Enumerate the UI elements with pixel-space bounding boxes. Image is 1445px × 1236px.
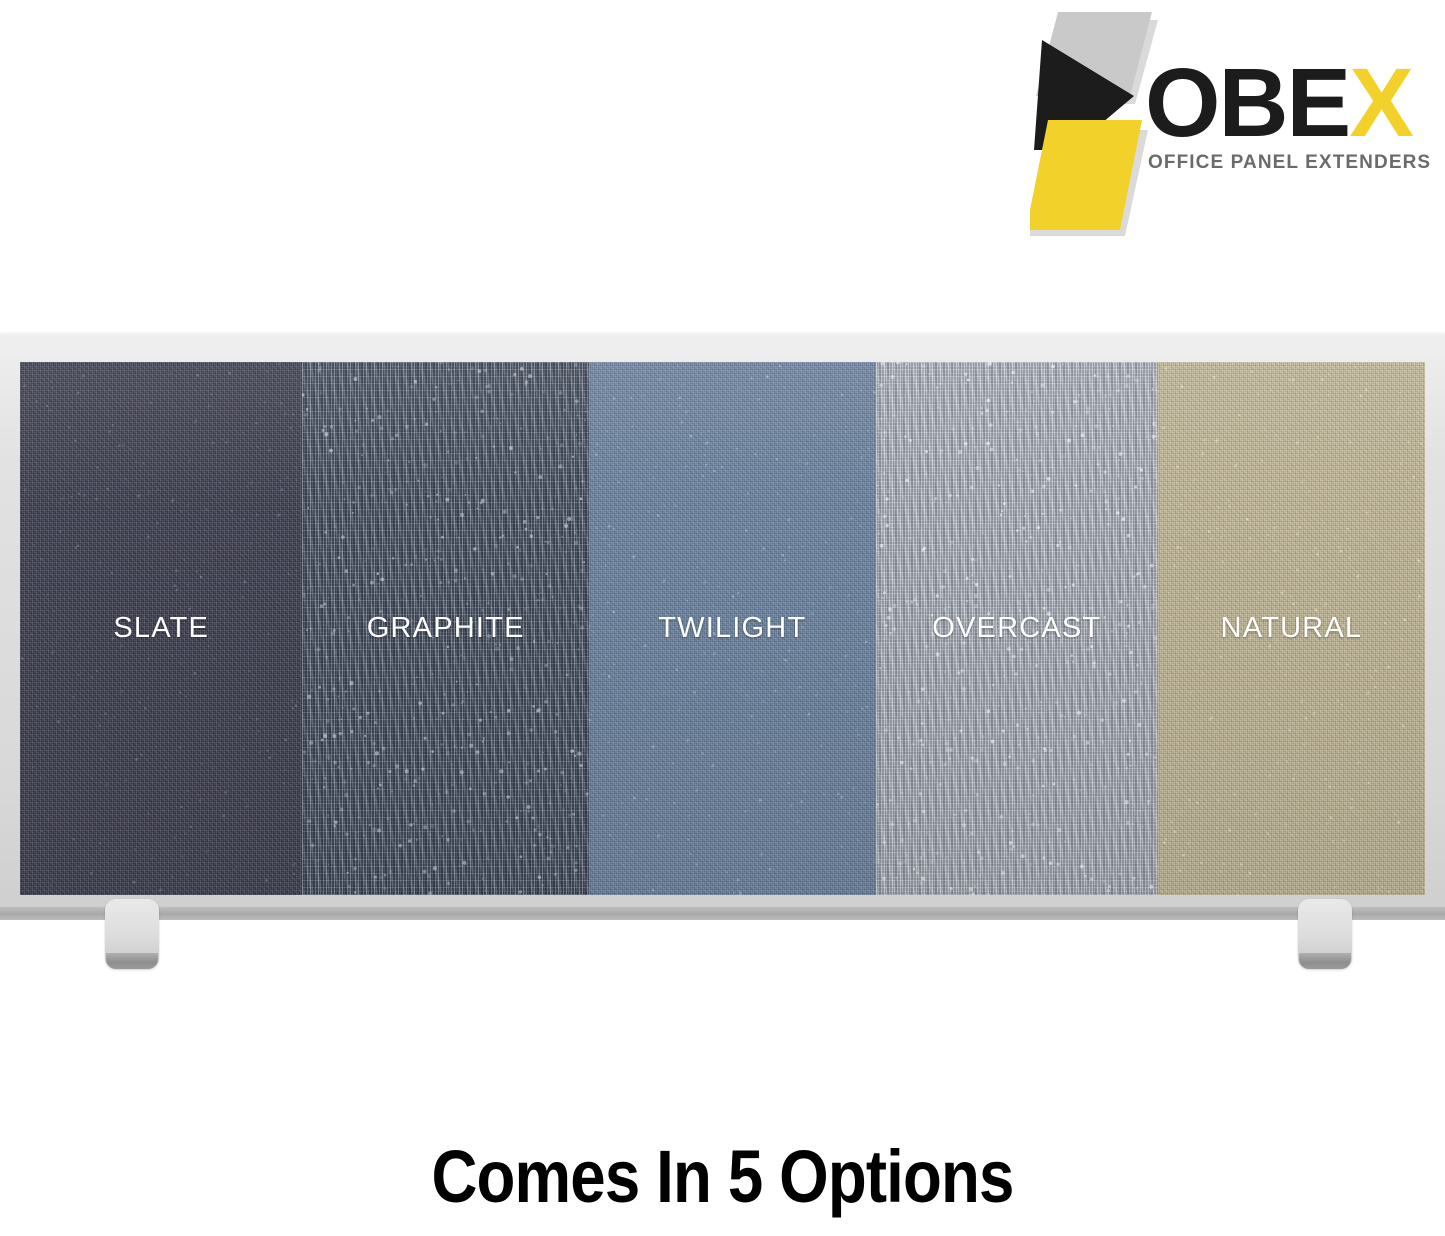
panel-extender-product: SLATEGRAPHITETWILIGHTOVERCASTNATURAL bbox=[0, 332, 1445, 992]
obex-letters-obe: OBE bbox=[1145, 48, 1349, 157]
swatch-label-natural: NATURAL bbox=[1221, 612, 1363, 645]
obex-lettering: OBEX bbox=[1145, 54, 1412, 151]
panel-foot-right bbox=[1298, 899, 1352, 969]
brand-logo: OBEX OFFICE PANEL EXTENDERS bbox=[1030, 8, 1430, 238]
caption-text: Comes In 5 Options bbox=[101, 1140, 1344, 1214]
fabric-swatch-graphite: GRAPHITE bbox=[302, 362, 589, 895]
fabric-swatch-slate: SLATE bbox=[20, 362, 302, 895]
panel-frame: SLATEGRAPHITETWILIGHTOVERCASTNATURAL bbox=[0, 332, 1445, 912]
swatch-label-overcast: OVERCAST bbox=[932, 612, 1101, 645]
obex-tagline: OFFICE PANEL EXTENDERS bbox=[1148, 152, 1431, 174]
fabric-swatch-twilight: TWILIGHT bbox=[589, 362, 876, 895]
swatch-label-slate: SLATE bbox=[113, 612, 209, 645]
fabric-swatch-natural: NATURAL bbox=[1158, 362, 1425, 895]
obex-letter-x: X bbox=[1349, 48, 1412, 157]
panel-foot-left bbox=[105, 899, 159, 969]
panel-bottom-rail bbox=[0, 907, 1445, 920]
swatch-label-graphite: GRAPHITE bbox=[367, 612, 525, 645]
obex-logo-mark bbox=[1030, 8, 1160, 238]
fabric-swatch-strip: SLATEGRAPHITETWILIGHTOVERCASTNATURAL bbox=[20, 362, 1425, 895]
obex-wordmark: OBEX OFFICE PANEL EXTENDERS bbox=[1145, 54, 1435, 199]
fabric-swatch-overcast: OVERCAST bbox=[876, 362, 1158, 895]
swatch-label-twilight: TWILIGHT bbox=[658, 612, 806, 645]
